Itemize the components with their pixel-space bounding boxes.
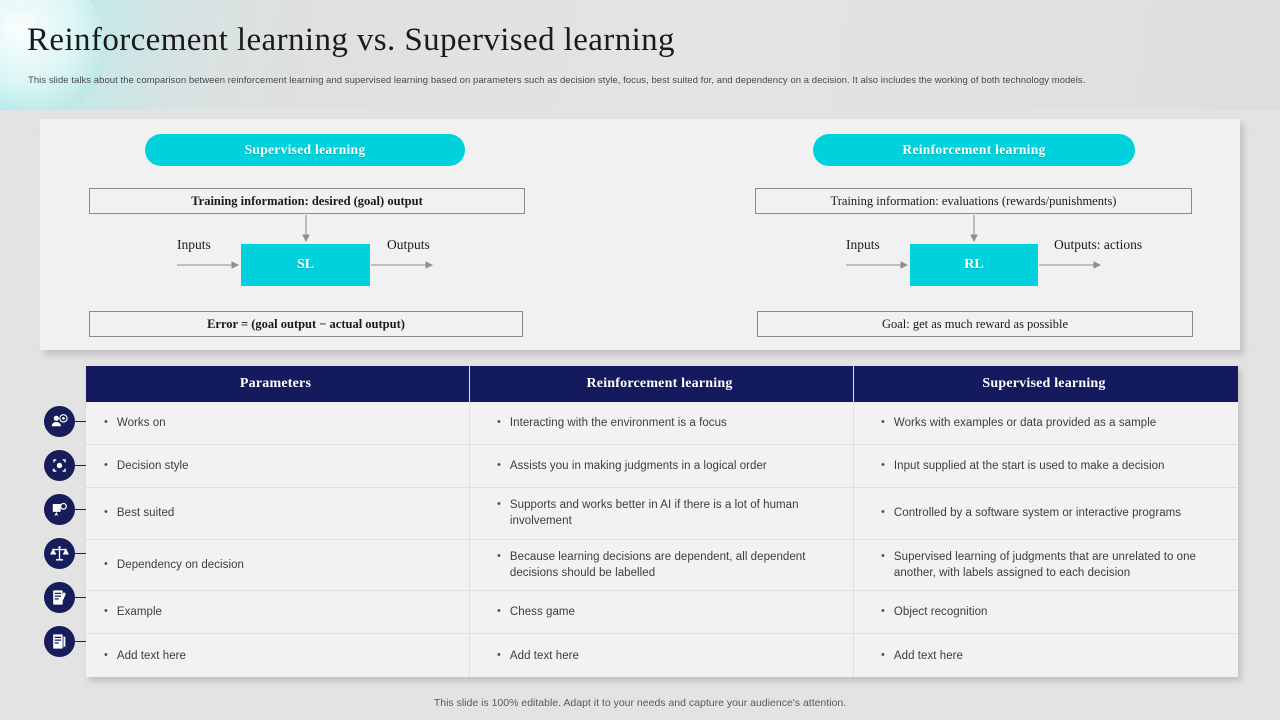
cell-text: Input supplied at the start is used to m…: [894, 458, 1165, 474]
row-icon-dependency[interactable]: [44, 538, 75, 569]
table-row[interactable]: •Works on •Interacting with the environm…: [86, 402, 1238, 445]
table-header-supervised: Supervised learning: [854, 366, 1238, 402]
bullet-icon: •: [104, 458, 108, 474]
bullet-icon: •: [881, 648, 885, 664]
bullet-icon: •: [104, 557, 108, 573]
cell-text: Because learning decisions are dependent…: [510, 549, 839, 582]
bullet-icon: •: [497, 549, 501, 565]
table-cell-parameter: •Dependency on decision: [86, 540, 470, 591]
supervised-learning-diagram: Supervised learning Training information…: [40, 119, 640, 350]
bullet-icon: •: [881, 549, 885, 565]
comparison-table: Parameters Reinforcement learning Superv…: [86, 366, 1238, 677]
bullet-icon: •: [104, 505, 108, 521]
cell-text: Best suited: [117, 505, 174, 521]
reinforcement-goal-box: Goal: get as much reward as possible: [757, 311, 1193, 337]
diagram-panel: Supervised learning Training information…: [40, 119, 1240, 350]
document-lines-icon[interactable]: [44, 626, 75, 657]
cell-text: Supervised learning of judgments that ar…: [894, 549, 1224, 582]
cell-text: Example: [117, 604, 162, 620]
table-row[interactable]: •Example • Chess game •Object recognitio…: [86, 591, 1238, 634]
target-badge-icon[interactable]: [44, 494, 75, 525]
table-cell-reinforcement: • Chess game: [470, 591, 854, 633]
row-icon-best-suited[interactable]: [44, 494, 75, 525]
cell-text: Supports and works better in AI if there…: [510, 497, 839, 530]
table-header-row: Parameters Reinforcement learning Superv…: [86, 366, 1238, 402]
table-row[interactable]: •Decision style •Assists you in making j…: [86, 445, 1238, 488]
cell-text: Add text here: [510, 648, 579, 664]
table-cell-reinforcement: •Add text here: [470, 634, 854, 677]
cell-text: Chess game: [510, 604, 575, 620]
bullet-icon: •: [104, 604, 108, 620]
table-row[interactable]: •Add text here •Add text here •Add text …: [86, 634, 1238, 677]
bullet-icon: •: [104, 415, 108, 431]
decision-frame-icon[interactable]: [44, 450, 75, 481]
users-compare-icon[interactable]: [44, 406, 75, 437]
table-cell-parameter: •Add text here: [86, 634, 470, 677]
supervised-error-box: Error = (goal output − actual output): [89, 311, 523, 337]
supervised-model-box: SL: [241, 244, 370, 286]
table-cell-parameter: •Decision style: [86, 445, 470, 487]
table-cell-supervised: •Supervised learning of judgments that a…: [854, 540, 1238, 591]
bullet-icon: •: [497, 648, 501, 664]
table-cell-supervised: •Input supplied at the start is used to …: [854, 445, 1238, 487]
cell-text: Object recognition: [894, 604, 988, 620]
table-cell-supervised: •Controlled by a software system or inte…: [854, 488, 1238, 539]
bullet-icon: •: [497, 604, 501, 620]
table-cell-reinforcement: •Because learning decisions are dependen…: [470, 540, 854, 591]
reinforcement-learning-diagram: Reinforcement learning Training informat…: [640, 119, 1240, 350]
balance-scale-icon[interactable]: [44, 538, 75, 569]
row-icon-works-on[interactable]: [44, 406, 75, 437]
table-cell-reinforcement: •Supports and works better in AI if ther…: [470, 488, 854, 539]
table-header-parameters: Parameters: [86, 366, 470, 402]
page-subtitle: This slide talks about the comparison be…: [28, 75, 1258, 86]
table-cell-parameter: •Works on: [86, 402, 470, 444]
document-pen-icon[interactable]: [44, 582, 75, 613]
page-title: Reinforcement learning vs. Supervised le…: [27, 22, 675, 59]
table-cell-supervised: •Object recognition: [854, 591, 1238, 633]
cell-text: Assists you in making judgments in a log…: [510, 458, 767, 474]
reinforcement-model-box: RL: [910, 244, 1038, 286]
table-header-reinforcement: Reinforcement learning: [470, 366, 854, 402]
table-row[interactable]: •Dependency on decision •Because learnin…: [86, 540, 1238, 592]
cell-text: Works with examples or data provided as …: [894, 415, 1156, 431]
bullet-icon: •: [881, 458, 885, 474]
cell-text: Interacting with the environment is a fo…: [510, 415, 727, 431]
cell-text: Controlled by a software system or inter…: [894, 505, 1181, 521]
footer-note: This slide is 100% editable. Adapt it to…: [0, 697, 1280, 709]
cell-text: Decision style: [117, 458, 189, 474]
cell-text: Dependency on decision: [117, 557, 244, 573]
row-icon-add-text[interactable]: [44, 626, 75, 657]
cell-text: Works on: [117, 415, 166, 431]
bullet-icon: •: [497, 458, 501, 474]
row-icon-example[interactable]: [44, 582, 75, 613]
bullet-icon: •: [881, 505, 885, 521]
table-cell-reinforcement: •Interacting with the environment is a f…: [470, 402, 854, 444]
cell-text: Add text here: [117, 648, 186, 664]
table-cell-reinforcement: •Assists you in making judgments in a lo…: [470, 445, 854, 487]
table-cell-parameter: •Best suited: [86, 488, 470, 539]
bullet-icon: •: [497, 497, 501, 513]
table-cell-parameter: •Example: [86, 591, 470, 633]
table-cell-supervised: •Add text here: [854, 634, 1238, 677]
cell-text: Add text here: [894, 648, 963, 664]
bullet-icon: •: [881, 604, 885, 620]
bullet-icon: •: [104, 648, 108, 664]
row-icon-decision-style[interactable]: [44, 450, 75, 481]
bullet-icon: •: [881, 415, 885, 431]
bullet-icon: •: [497, 415, 501, 431]
table-row[interactable]: •Best suited •Supports and works better …: [86, 488, 1238, 540]
table-cell-supervised: •Works with examples or data provided as…: [854, 402, 1238, 444]
